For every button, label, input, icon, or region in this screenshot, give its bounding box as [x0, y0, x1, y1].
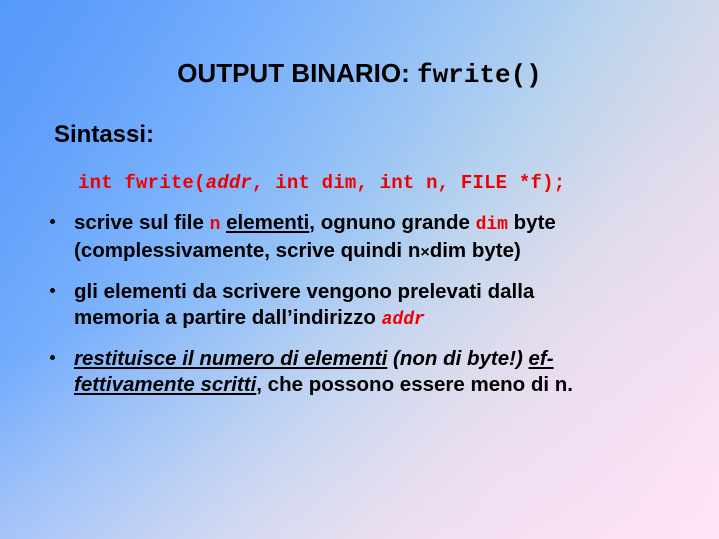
bullet-line: restituisce il numero di elementi (non d… — [74, 346, 686, 372]
text-segment: dim — [476, 215, 508, 235]
text-segment: dim byte) — [430, 239, 521, 262]
slide-title-prefix: OUTPUT BINARIO: — [177, 58, 417, 88]
slide-canvas: OUTPUT BINARIO: fwrite() Sintassi: int f… — [0, 0, 719, 539]
code-param-addr: addr — [206, 172, 252, 194]
bullet-scrive: scrive sul file n elementi, ognuno grand… — [46, 210, 686, 266]
text-segment: n — [210, 215, 221, 235]
slide-title: OUTPUT BINARIO: fwrite() — [0, 58, 719, 90]
text-segment: fettivamente scritti — [74, 373, 256, 396]
text-segment: byte — [508, 211, 556, 234]
section-heading-sintassi: Sintassi: — [54, 121, 154, 149]
text-segment: (non di byte!) — [393, 347, 523, 370]
text-segment: scrive sul file — [74, 211, 210, 234]
code-part2: , int dim, int n, FILE *f); — [252, 172, 565, 194]
bullet-dot-icon — [50, 355, 55, 360]
bullet-line: fettivamente scritti, che possono essere… — [74, 372, 686, 398]
text-segment: ef- — [529, 347, 554, 370]
slide-title-function: fwrite() — [417, 60, 542, 90]
text-segment: elementi — [226, 211, 309, 234]
code-signature-fwrite: int fwrite(addr, int dim, int n, FILE *f… — [78, 172, 565, 194]
bullet-dot-icon — [50, 219, 55, 224]
text-segment: (complessivamente, scrive quindi n — [74, 239, 420, 262]
bullet-dot-icon — [50, 288, 55, 293]
text-segment: gli elementi da scrivere vengono preleva… — [74, 280, 534, 303]
text-segment: restituisce il numero di elementi — [74, 347, 387, 370]
code-part1: int fwrite( — [78, 172, 206, 194]
text-segment: addr — [382, 310, 425, 330]
bullet-prelievo: gli elementi da scrivere vengono preleva… — [46, 279, 686, 333]
text-segment: × — [420, 244, 429, 261]
text-segment: , che possono essere meno di n. — [256, 373, 573, 396]
bullet-line: memoria a partire dall’indirizzo addr — [74, 305, 686, 333]
text-segment: memoria a partire dall’indirizzo — [74, 306, 382, 329]
text-segment: , ognuno grande — [309, 211, 475, 234]
bullet-line: (complessivamente, scrive quindi n×dim b… — [74, 238, 686, 266]
bullet-list: scrive sul file n elementi, ognuno grand… — [46, 210, 686, 411]
bullet-ritorno: restituisce il numero di elementi (non d… — [46, 346, 686, 398]
bullet-line: gli elementi da scrivere vengono preleva… — [74, 279, 686, 305]
bullet-line: scrive sul file n elementi, ognuno grand… — [74, 210, 686, 238]
